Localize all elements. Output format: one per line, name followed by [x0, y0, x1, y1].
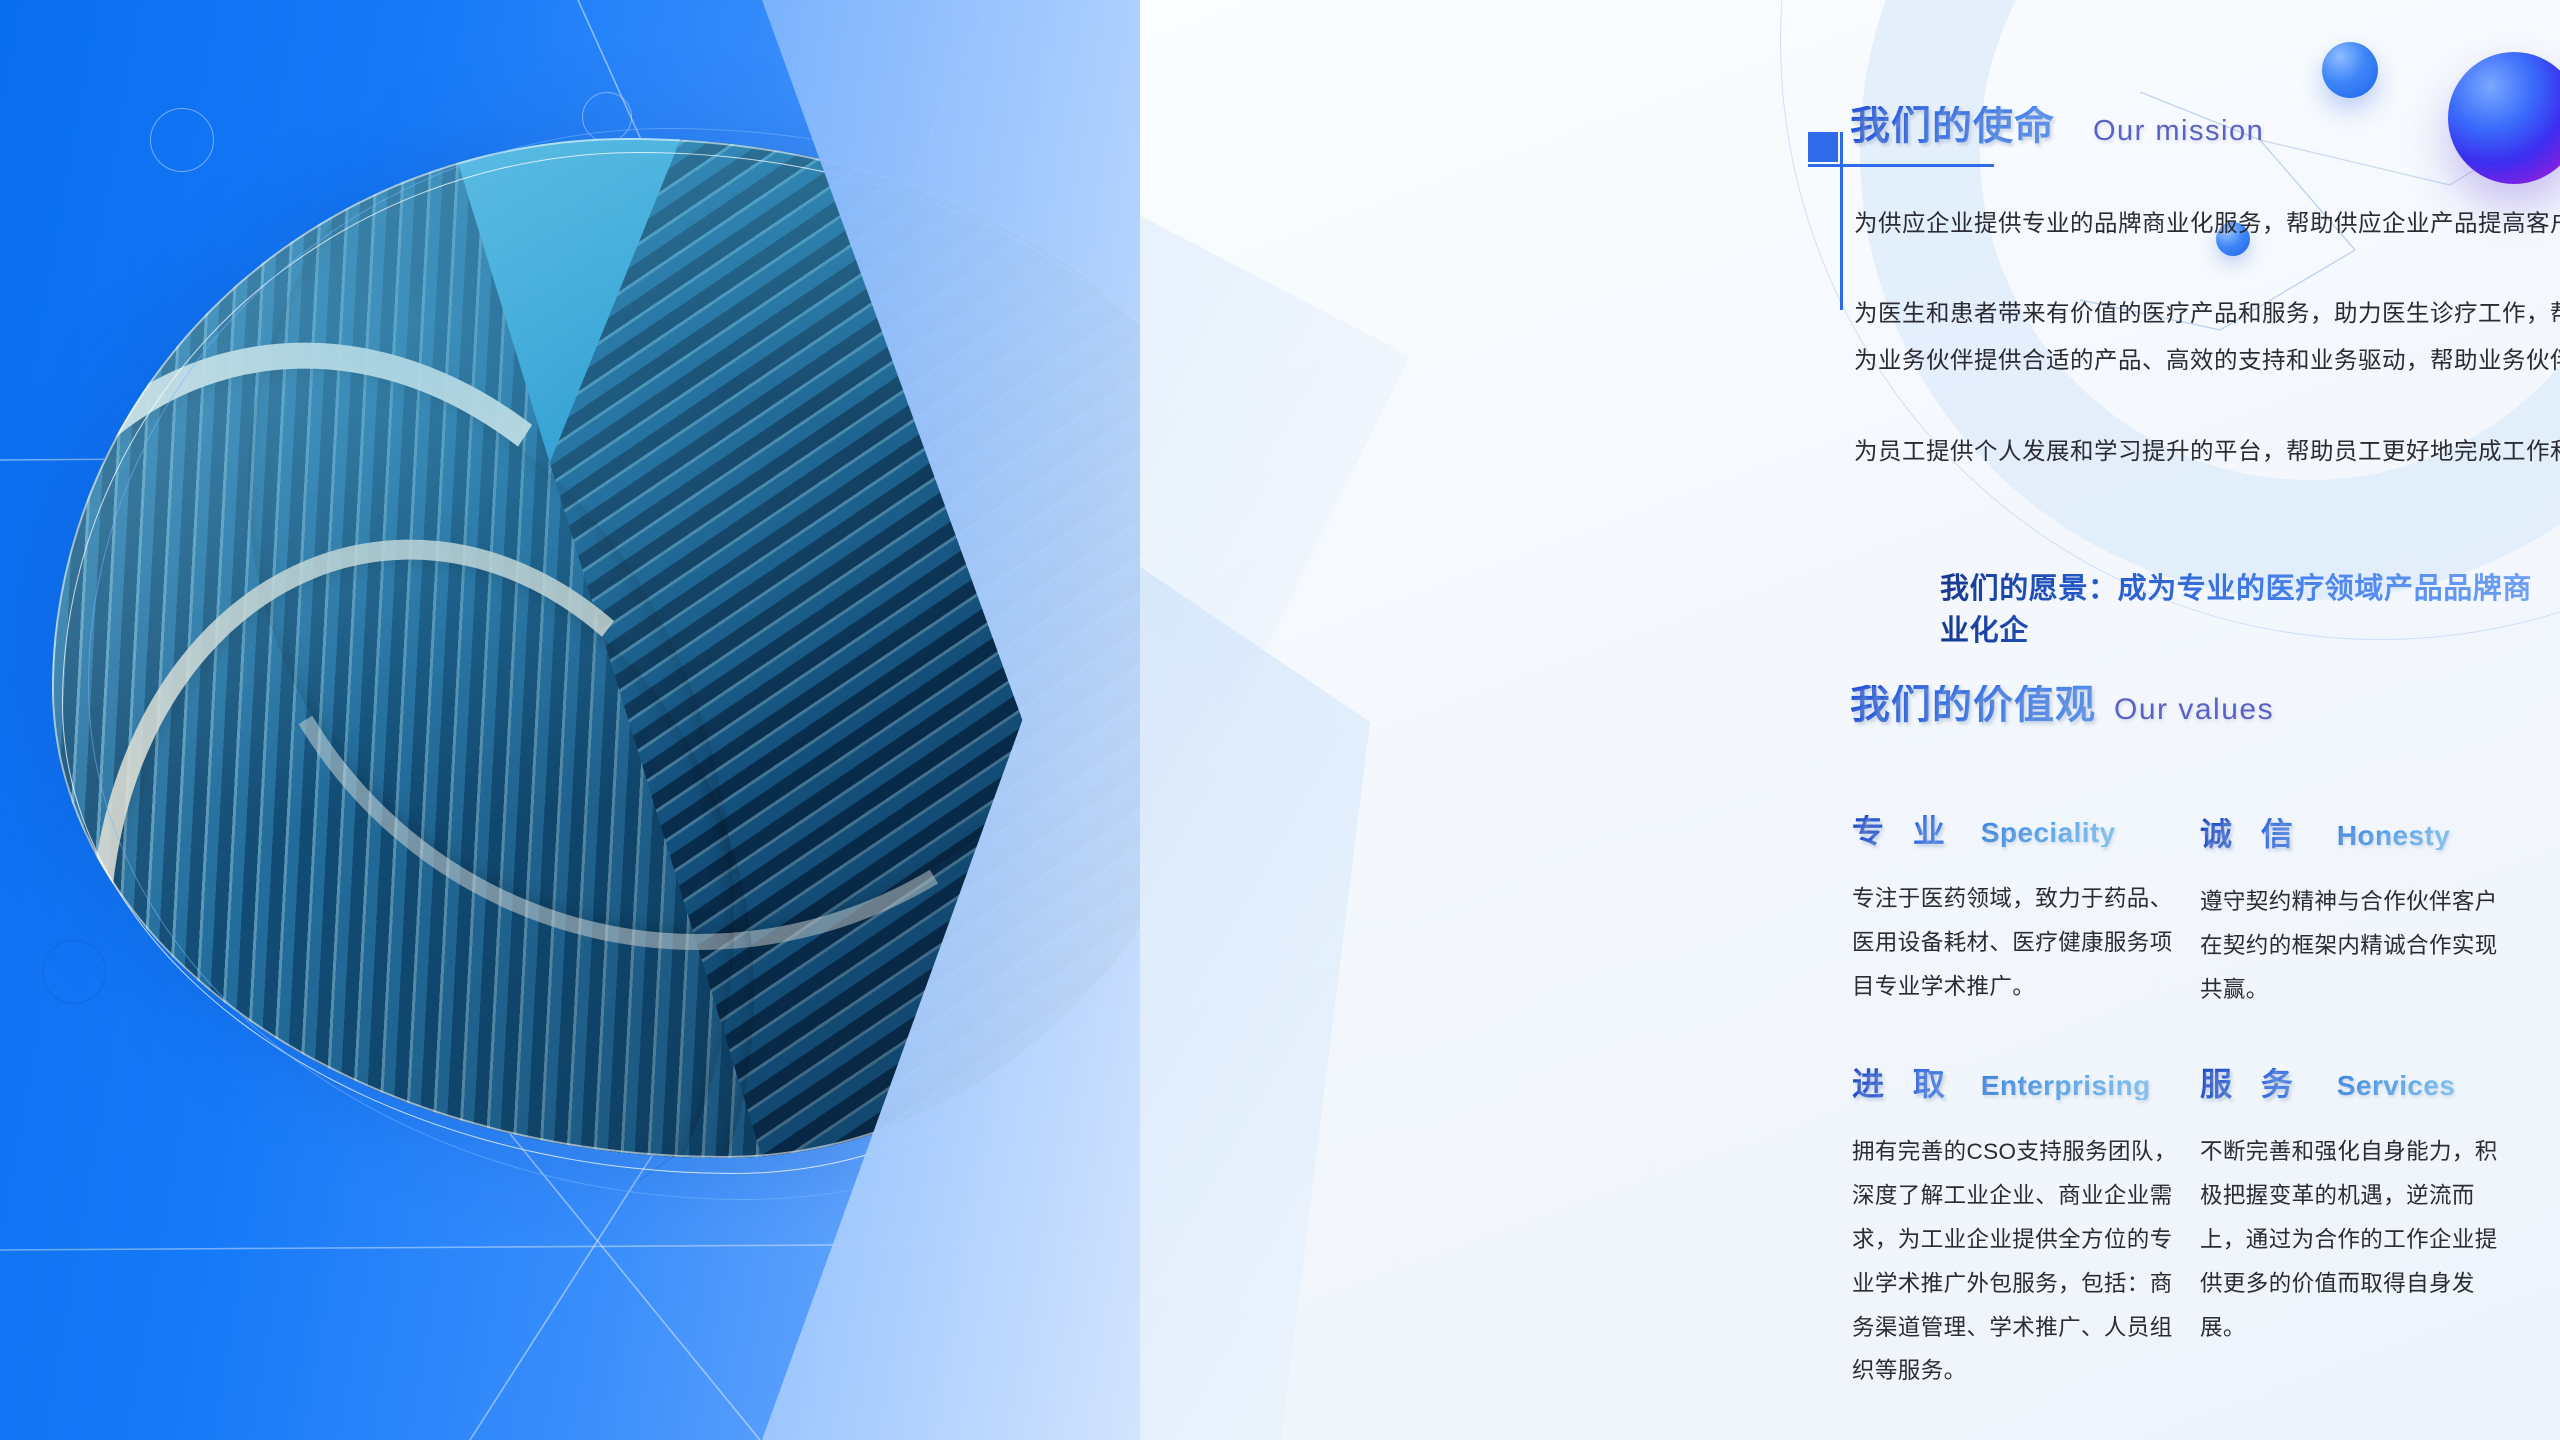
value-title-en: Honesty: [2337, 822, 2450, 850]
mission-paragraph-4: 为员工提供个人发展和学习提升的平台，帮助员工更好地完成工作和发展目标；: [1854, 428, 2560, 475]
mission-title-en: Our mission: [2093, 117, 2264, 146]
value-title-en: Services: [2337, 1072, 2455, 1100]
value-description: 拥有完善的CSO支持服务团队，深度了解工业企业、商业企业需求，为工业企业提供全方…: [1852, 1130, 2182, 1393]
decor-sphere-medium: [2322, 42, 2378, 98]
value-block-enterprising: 进 取 Enterprising 拥有完善的CSO支持服务团队，深度了解工业企业…: [1852, 1068, 2182, 1393]
mission-paragraph-2: 为医生和患者带来有价值的医疗产品和服务，助力医生诊疗工作，帮助患者更快康复；: [1854, 290, 2560, 337]
value-title-en: Speciality: [1981, 819, 2116, 847]
value-title-cn: 服 务: [2200, 1068, 2303, 1100]
mission-square-marker: [1808, 132, 1838, 162]
mission-title-cn: 我们的使命: [1850, 106, 2055, 146]
mission-paragraph-1: 为供应企业提供专业的品牌商业化服务，帮助供应企业产品提高客户品牌认知度和市场覆盖…: [1854, 200, 2560, 247]
value-block-services: 服 务 Services 不断完善和强化自身能力，积极把握变革的机遇，逆流而上，…: [2200, 1068, 2500, 1349]
value-block-speciality: 专 业 Speciality 专注于医药领域，致力于药品、医用设备耗材、医疗健康…: [1852, 815, 2182, 1009]
value-description: 不断完善和强化自身能力，积极把握变革的机遇，逆流而上，通过为合作的工作企业提供更…: [2200, 1130, 2500, 1349]
value-heading: 服 务 Services: [2200, 1068, 2500, 1100]
values-title-en: Our values: [2114, 695, 2274, 725]
decor-facet-shape: [1140, 560, 1370, 1440]
value-block-honesty: 诚 信 Honesty 遵守契约精神与合作伙伴客户在契约的框架内精诚合作实现共赢…: [2200, 818, 2500, 1012]
value-heading: 进 取 Enterprising: [1852, 1068, 2182, 1100]
values-heading: 我们的价值观 Our values: [1850, 685, 2274, 725]
value-title-cn: 进 取: [1852, 1068, 1955, 1100]
vision-statement: 我们的愿景：成为专业的医疗领域产品品牌商业化企: [1940, 565, 2560, 649]
value-title-cn: 专 业: [1852, 815, 1955, 847]
mission-paragraph-3: 为业务伙伴提供合适的产品、高效的支持和业务驱动，帮助业务伙伴更好地做好终端推广工…: [1854, 337, 2560, 384]
mission-vertical-rule: [1840, 132, 1843, 310]
mission-underline: [1808, 164, 1994, 167]
left-blue-panel: [0, 0, 1180, 1440]
decor-circle-outline: [582, 92, 632, 142]
value-title-cn: 诚 信: [2200, 818, 2303, 850]
values-title-cn: 我们的价值观: [1850, 685, 2096, 725]
slide-canvas: 我们的使命 Our mission 为供应企业提供专业的品牌商业化服务，帮助供应…: [0, 0, 2560, 1440]
value-description: 专注于医药领域，致力于药品、医用设备耗材、医疗健康服务项目专业学术推广。: [1852, 877, 2182, 1009]
value-title-en: Enterprising: [1981, 1072, 2151, 1100]
value-heading: 专 业 Speciality: [1852, 815, 2182, 847]
mission-heading: 我们的使命 Our mission: [1850, 106, 2264, 146]
right-content-panel: 我们的使命 Our mission 为供应企业提供专业的品牌商业化服务，帮助供应…: [1140, 0, 2560, 1440]
value-description: 遵守契约精神与合作伙伴客户在契约的框架内精诚合作实现共赢。: [2200, 880, 2500, 1012]
value-heading: 诚 信 Honesty: [2200, 818, 2500, 850]
